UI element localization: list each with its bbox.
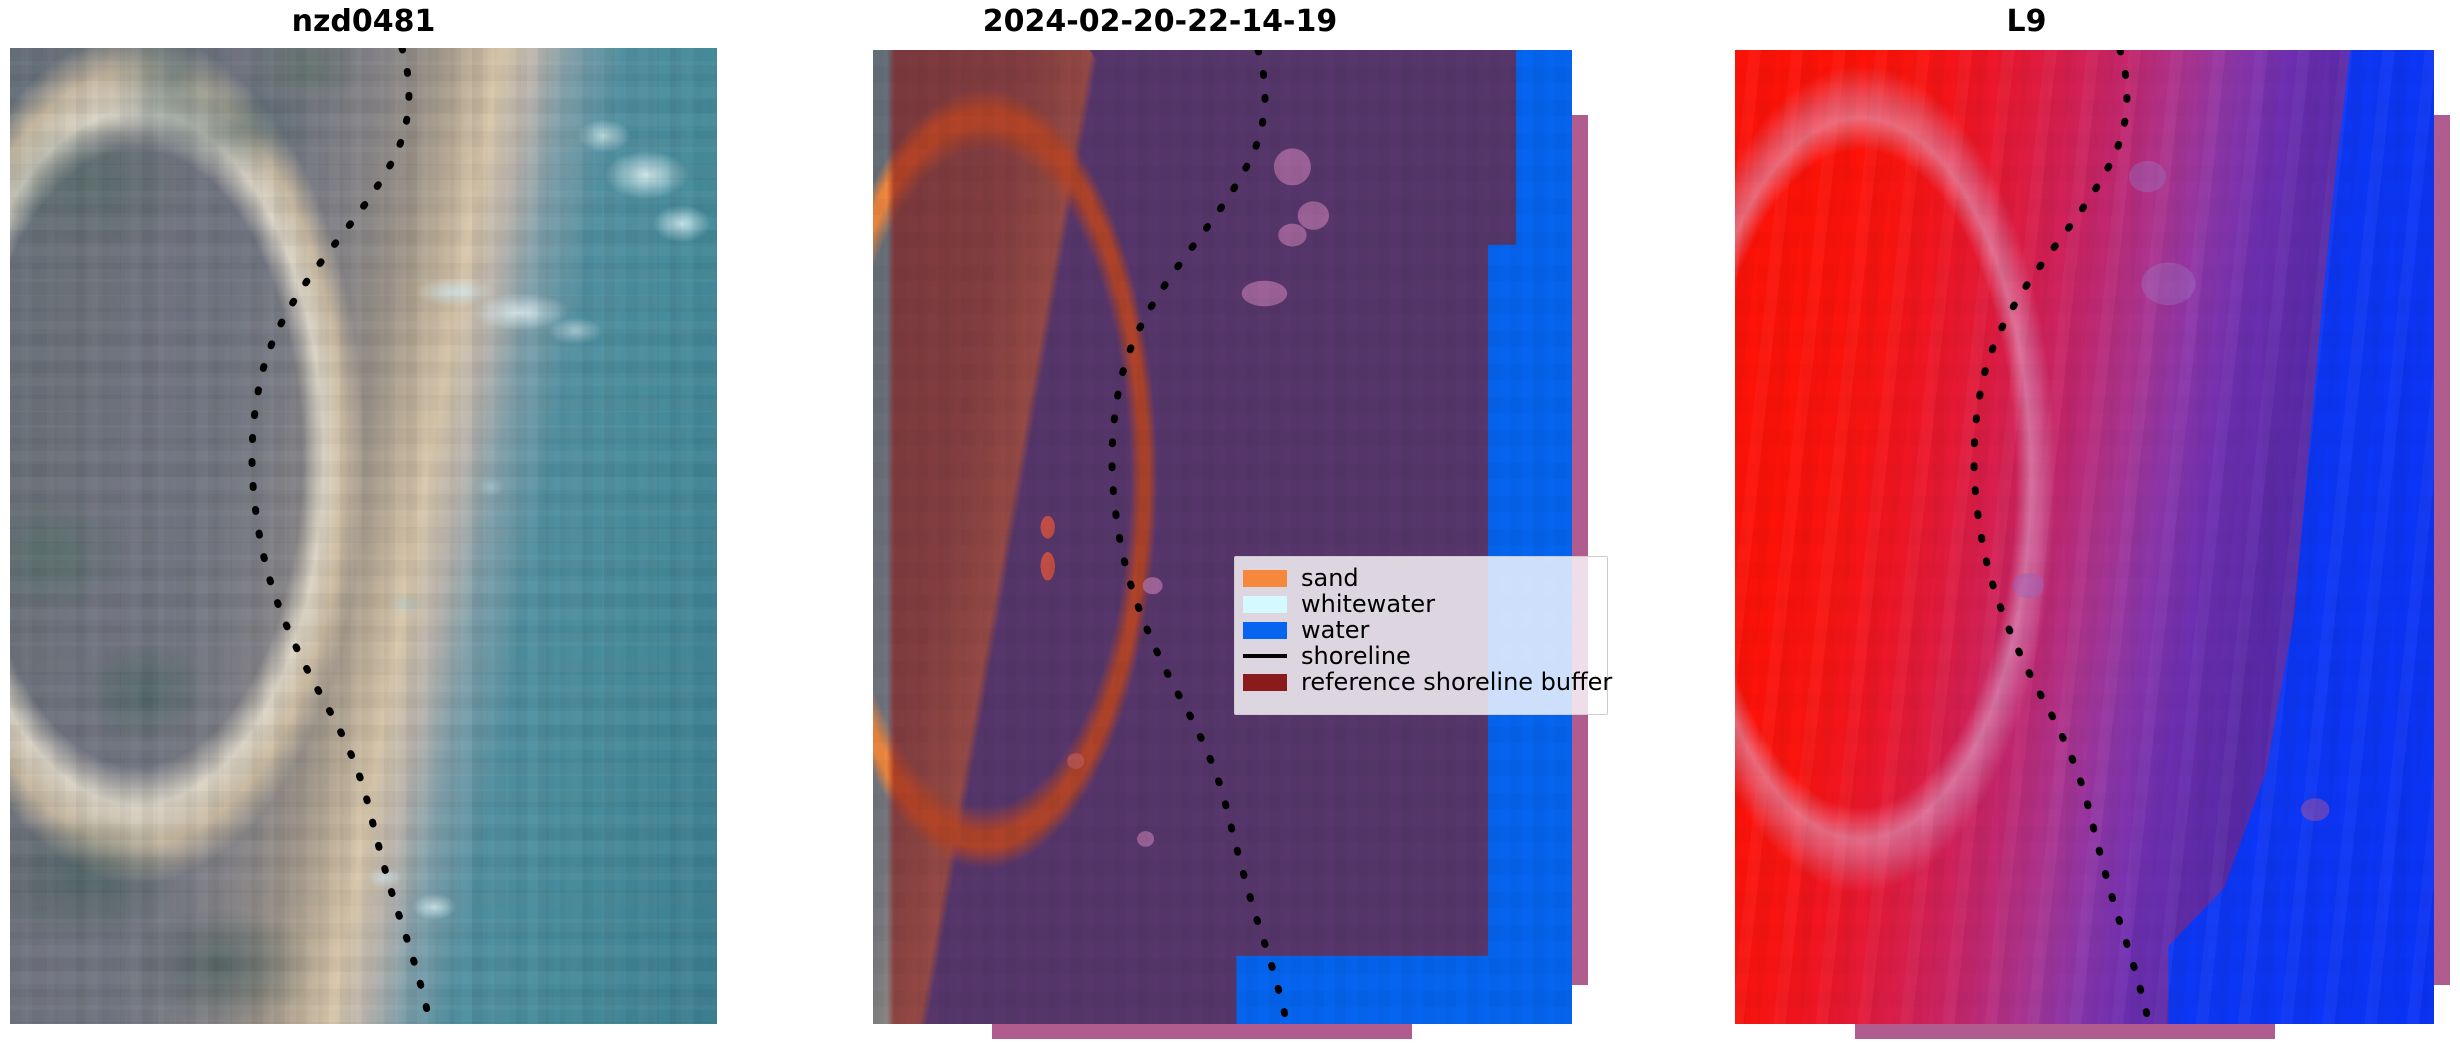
panel-l9-title: L9	[1593, 4, 2460, 39]
legend-label-shoreline: shoreline	[1301, 643, 1411, 669]
legend-item-shoreline: shoreline	[1243, 643, 1597, 669]
cls-buffer-strip-bottom	[992, 1024, 1412, 1039]
l9-buffer-strip-bottom	[1855, 1024, 2275, 1039]
panel-rgb-image	[10, 48, 717, 1024]
l9-buffer-strip-right	[2434, 115, 2450, 985]
legend-swatch-shoreline	[1243, 654, 1287, 658]
legend-label-sand: sand	[1301, 565, 1359, 591]
legend-item-sand: sand	[1243, 565, 1597, 591]
legend-swatch-sand	[1243, 570, 1287, 587]
panel-classified-axes[interactable]	[873, 50, 1572, 1024]
legend[interactable]: sand whitewater water shoreline referenc…	[1234, 556, 1608, 715]
l9-shoreline	[1735, 50, 2434, 1024]
legend-swatch-water	[1243, 622, 1287, 639]
legend-item-water: water	[1243, 617, 1597, 643]
panel-l9-image	[1735, 50, 2434, 1024]
legend-swatch-reference-buffer	[1243, 674, 1287, 691]
legend-swatch-whitewater	[1243, 596, 1287, 613]
legend-item-reference-buffer: reference shoreline buffer	[1243, 669, 1597, 695]
panel-classified-title: 2024-02-20-22-14-19	[727, 4, 1593, 39]
legend-label-whitewater: whitewater	[1301, 591, 1435, 617]
cls-shoreline	[873, 50, 1572, 1024]
panel-rgb-axes[interactable]	[10, 48, 717, 1024]
figure-canvas: nzd0481	[0, 0, 2460, 1054]
legend-label-reference-buffer: reference shoreline buffer	[1301, 669, 1612, 695]
panel-classified-image	[873, 50, 1572, 1024]
panel-rgb-title: nzd0481	[0, 4, 727, 39]
panel-rgb: nzd0481	[0, 0, 727, 1054]
panel-l9-axes[interactable]	[1735, 50, 2434, 1024]
rgb-shoreline	[10, 48, 717, 1024]
legend-item-whitewater: whitewater	[1243, 591, 1597, 617]
cls-buffer-strip-right	[1572, 115, 1588, 985]
legend-label-water: water	[1301, 617, 1369, 643]
